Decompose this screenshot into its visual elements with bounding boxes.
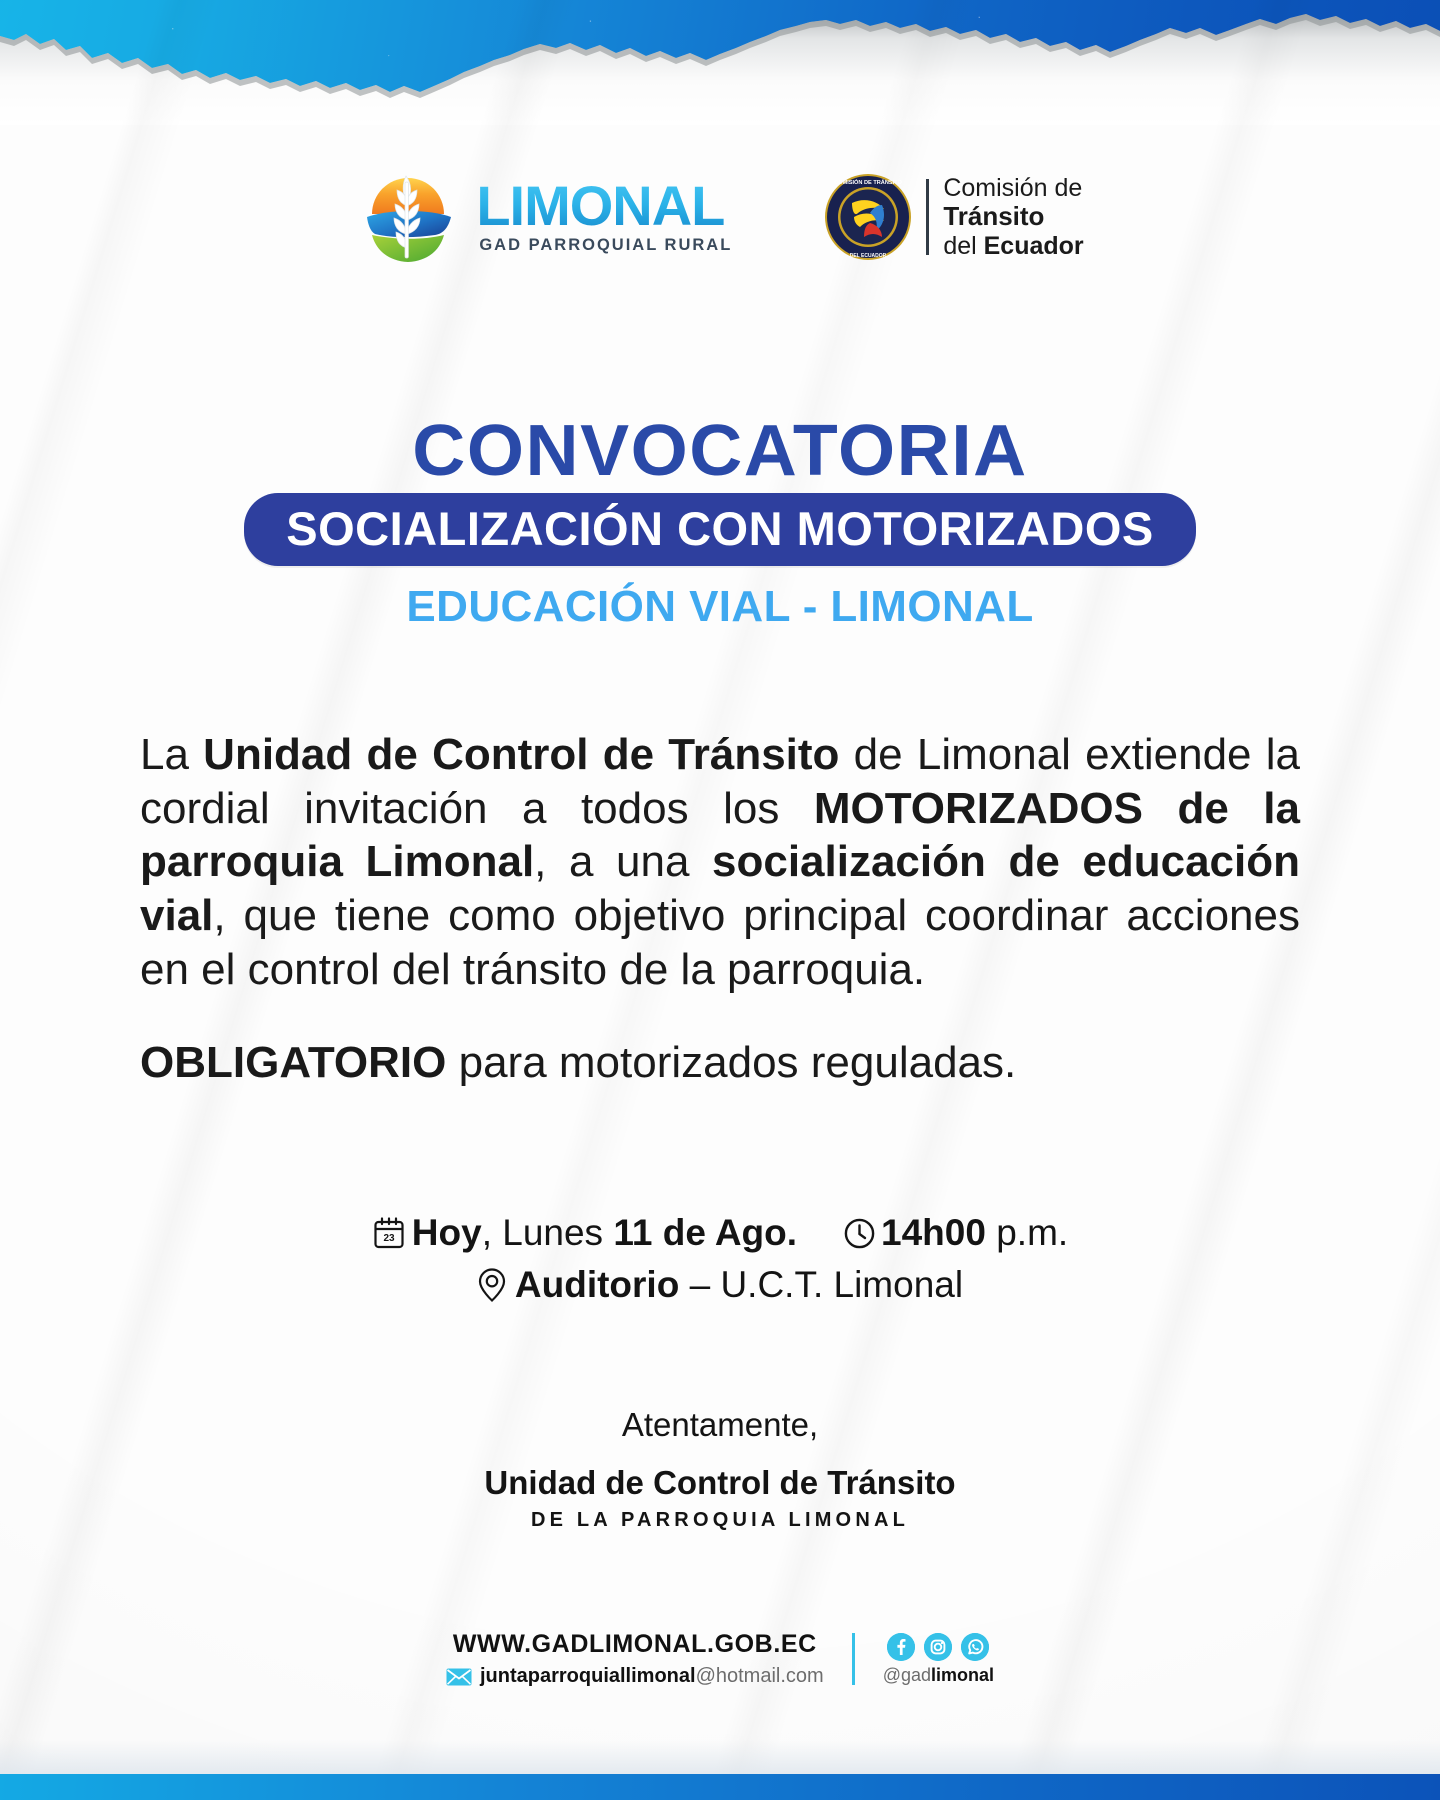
signature-subtitle: DE LA PARROQUIA LIMONAL xyxy=(0,1509,1440,1532)
event-date: 23 Hoy, Lunes 11 de Ago. xyxy=(372,1212,797,1254)
time-text: 14h00 p.m. xyxy=(881,1212,1068,1254)
title-pill-subtitle: SOCIALIZACIÓN CON MOTORIZADOS xyxy=(244,493,1195,566)
paragraph-invitation: La Unidad de Control de Tránsito de Limo… xyxy=(140,728,1300,996)
torn-paper-edge-top xyxy=(0,0,1440,125)
svg-text:23: 23 xyxy=(383,1233,395,1244)
event-details: 23 Hoy, Lunes 11 de Ago. 14h00 p.m. xyxy=(0,1212,1440,1306)
whatsapp-icon[interactable] xyxy=(961,1633,989,1661)
poster-canvas: LIMONAL GAD PARROQUIAL RURAL COMISIÓN DE… xyxy=(0,0,1440,1800)
svg-text:COMISIÓN DE TRÁNSITO: COMISIÓN DE TRÁNSITO xyxy=(834,178,902,186)
signature-name: Unidad de Control de Tránsito xyxy=(0,1464,1440,1502)
detail-row-place: Auditorio – U.C.T. Limonal xyxy=(477,1264,963,1306)
place-text: Auditorio – U.C.T. Limonal xyxy=(515,1264,963,1306)
signature-greeting: Atentamente, xyxy=(0,1406,1440,1444)
email-text: juntaparroquiallimonal@hotmail.com xyxy=(480,1665,824,1688)
footer-divider xyxy=(852,1633,855,1685)
location-pin-icon xyxy=(477,1267,507,1303)
limonal-logo: LIMONAL GAD PARROQUIAL RURAL xyxy=(356,168,732,266)
title-block: CONVOCATORIA SOCIALIZACIÓN CON MOTORIZAD… xyxy=(0,415,1440,632)
signature-block: Atentamente, Unidad de Control de Tránsi… xyxy=(0,1406,1440,1532)
svg-text:DEL ECUADOR: DEL ECUADOR xyxy=(850,253,887,259)
bottom-blue-band xyxy=(0,1774,1440,1800)
cte-wordmark: Comisión de Tránsito del Ecuador xyxy=(943,174,1083,259)
cte-line-3: del Ecuador xyxy=(943,232,1083,260)
social-icon-row xyxy=(887,1633,989,1661)
instagram-icon[interactable] xyxy=(924,1633,952,1661)
limonal-name: LIMONAL xyxy=(476,179,724,232)
cte-line-1: Comisión de xyxy=(943,174,1083,202)
calendar-icon: 23 xyxy=(372,1216,406,1250)
page-title: CONVOCATORIA xyxy=(0,415,1440,487)
limonal-subtitle: GAD PARROQUIAL RURAL xyxy=(479,236,732,255)
footer: WWW.GADLIMONAL.GOB.EC juntaparroquiallim… xyxy=(0,1630,1440,1688)
footer-contact: WWW.GADLIMONAL.GOB.EC juntaparroquiallim… xyxy=(446,1630,824,1688)
cte-logo: COMISIÓN DE TRÁNSITO DEL ECUADOR Comisió… xyxy=(824,173,1083,261)
cte-line-2: Tránsito xyxy=(943,202,1083,231)
event-location: Auditorio – U.C.T. Limonal xyxy=(477,1264,963,1306)
limonal-emblem-icon xyxy=(356,168,460,266)
detail-row-datetime: 23 Hoy, Lunes 11 de Ago. 14h00 p.m. xyxy=(372,1212,1068,1254)
date-text: Hoy, Lunes 11 de Ago. xyxy=(412,1212,797,1254)
limonal-wordmark: LIMONAL GAD PARROQUIAL RURAL xyxy=(476,179,732,255)
clock-icon xyxy=(843,1217,876,1250)
bottom-fade xyxy=(0,1740,1440,1774)
event-time: 14h00 p.m. xyxy=(843,1212,1068,1254)
website-link[interactable]: WWW.GADLIMONAL.GOB.EC xyxy=(453,1630,817,1659)
envelope-icon xyxy=(446,1668,472,1686)
footer-social: @gadlimonal xyxy=(883,1633,994,1686)
facebook-icon[interactable] xyxy=(887,1633,915,1661)
logo-row: LIMONAL GAD PARROQUIAL RURAL COMISIÓN DE… xyxy=(0,168,1440,266)
cte-seal-icon: COMISIÓN DE TRÁNSITO DEL ECUADOR xyxy=(824,173,912,261)
paragraph-mandatory: OBLIGATORIO para motorizados reguladas. xyxy=(140,1036,1300,1090)
cte-divider xyxy=(926,179,929,255)
title-tertiary: EDUCACIÓN VIAL - LIMONAL xyxy=(0,582,1440,632)
body-text: La Unidad de Control de Tránsito de Limo… xyxy=(140,728,1300,1090)
email-line[interactable]: juntaparroquiallimonal@hotmail.com xyxy=(446,1665,824,1688)
social-handle: @gadlimonal xyxy=(883,1665,994,1686)
